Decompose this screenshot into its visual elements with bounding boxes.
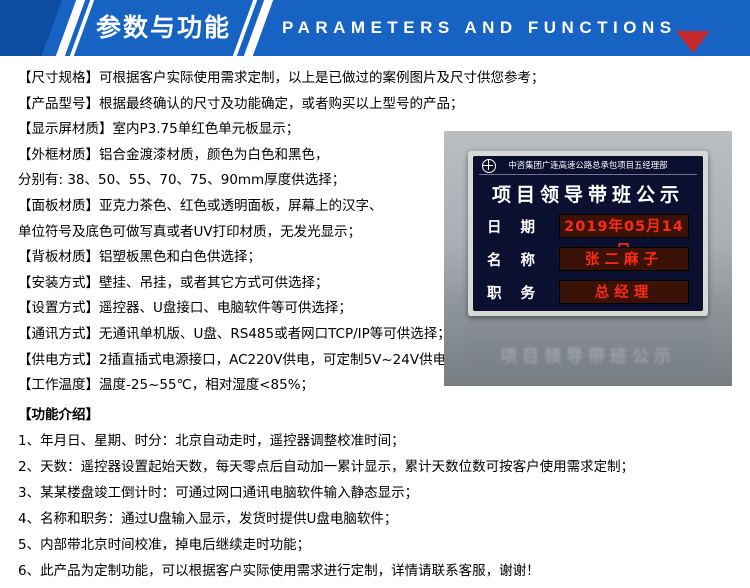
led-display-screen: 中咨集团广连高速公路总承包项目五经理部 项目领导带班公示 日 期 2019年05… — [473, 156, 703, 311]
feature-item: 2、天数：遥控器设置起始天数，每天零点后自动加一累计显示，累计天数位数可按客户使… — [18, 454, 732, 480]
spec-item: 单位符号及底色可做写真或者UV打印材质，无发光显示； — [18, 220, 478, 246]
spec-item: 【安装方式】壁挂、吊挂，或者其它方式可供选择； — [18, 271, 478, 297]
feature-item: 4、名称和职务：通过U盘输入显示，发货时提供U盘电脑软件； — [18, 506, 732, 532]
screen-row-value: 张二麻子 — [559, 247, 689, 271]
feature-item: 1、年月日、星期、时分：北京自动走时，遥控器调整校准时间； — [18, 428, 732, 454]
spec-item: 【产品型号】根据最终确认的尺寸及功能确定，或者购买以上型号的产品； — [18, 92, 478, 118]
page-header-banner: 参数与功能 PARAMETERS AND FUNCTIONS — [0, 0, 750, 56]
screen-row-label: 职 务 — [487, 282, 542, 303]
spec-item: 【显示屏材质】室内P3.75单红色单元板显示； — [18, 117, 478, 143]
screen-row-label: 日 期 — [487, 216, 542, 237]
screen-row-value: 总经理 — [559, 280, 689, 304]
header-title-english: PARAMETERS AND FUNCTIONS — [282, 17, 677, 39]
spec-item: 【面板材质】亚克力茶色、红色或透明面板，屏幕上的汉字、 — [18, 194, 478, 220]
features-heading: 【功能介绍】 — [18, 402, 732, 428]
led-display-frame: 中咨集团广连高速公路总承包项目五经理部 项目领导带班公示 日 期 2019年05… — [468, 151, 708, 316]
screen-reflection-text: 项目领导带班公示 — [468, 342, 708, 367]
spec-item: 【设置方式】遥控器、U盘接口、电脑软件等可供选择； — [18, 296, 478, 322]
features-section: 【功能介绍】 1、年月日、星期、时分：北京自动走时，遥控器调整校准时间； 2、天… — [18, 402, 732, 584]
spec-item: 【供电方式】2插直插式电源接口，AC220V供电，可定制5V~24V供电； — [18, 348, 478, 374]
header-red-triangle-icon — [676, 31, 710, 53]
product-photo: 中咨集团广连高速公路总承包项目五经理部 项目领导带班公示 日 期 2019年05… — [444, 131, 732, 386]
screen-row-value: 2019年05月14日 — [559, 214, 689, 238]
screen-main-heading: 项目领导带班公示 — [473, 180, 703, 207]
header-left-accent — [0, 0, 62, 56]
specifications-list: 【尺寸规格】可根据客户实际使用需求定制，以上是已做过的案例图片及尺寸供您参考； … — [18, 66, 478, 399]
feature-item: 6、此产品为定制功能，可以根据客户实际使用需求进行定制，详情请联系客服，谢谢！ — [18, 558, 732, 584]
screen-row-title: 职 务 总经理 — [473, 280, 703, 308]
spec-item: 【外框材质】铝合金渡漆材质，颜色为白色和黑色， — [18, 143, 478, 169]
spec-item: 分别有: 38、50、55、70、75、90mm厚度供选择； — [18, 168, 478, 194]
screen-company-title: 中咨集团广连高速公路总承包项目五经理部 — [473, 159, 703, 171]
spec-item: 【背板材质】铝塑板黑色和白色供选择； — [18, 245, 478, 271]
header-title-chinese: 参数与功能 — [96, 12, 231, 44]
feature-item: 3、某某楼盘竣工倒计时：可通过网口通讯电脑软件输入静态显示； — [18, 480, 732, 506]
header-divider-thick — [244, 0, 273, 56]
feature-item: 5、内部带北京时间校准，掉电后继续走时功能； — [18, 532, 732, 558]
spec-item: 【通讯方式】无通讯单机版、U盘、RS485或者网口TCP/IP等可供选择； — [18, 322, 478, 348]
screen-reflection: 项目领导带班公示 — [468, 321, 708, 381]
screen-divider — [479, 174, 697, 175]
screen-row-name: 名 称 张二麻子 — [473, 247, 703, 275]
screen-row-date: 日 期 2019年05月14日 — [473, 214, 703, 242]
spec-item: 【工作温度】温度-25~55℃，相对湿度<85%； — [18, 373, 478, 399]
spec-item: 【尺寸规格】可根据客户实际使用需求定制，以上是已做过的案例图片及尺寸供您参考； — [18, 66, 478, 92]
screen-row-label: 名 称 — [487, 249, 542, 270]
